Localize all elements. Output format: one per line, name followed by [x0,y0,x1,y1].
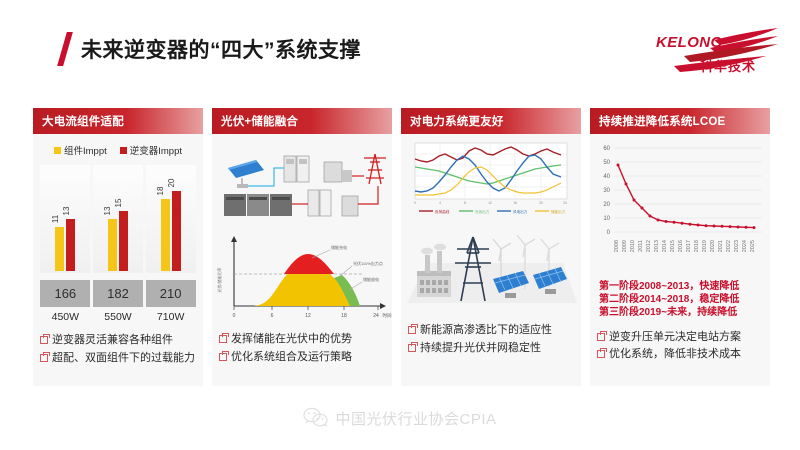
page-title-text: 未来逆变器的“四大”系统支撑 [81,34,361,64]
dispatch-chart-svg: 0 6 12 18 24 时间 光伏/储能功率 [212,232,392,322]
svg-text:2022: 2022 [726,240,732,252]
svg-text:18: 18 [341,313,347,319]
value-box-182: 182 [93,280,143,307]
legend-swatch-icon [54,147,61,154]
bar-value-label: 13 [103,207,112,216]
panel-1-title: 大电流组件适配 [33,113,124,129]
bar-group-450w: 11 13 [40,165,90,273]
bullet-text: 新能源高渗透比下的适应性 [420,324,552,337]
svg-text:光伏出力: 光伏出力 [475,209,490,214]
svg-text:时间: 时间 [383,312,392,319]
flag-bullet-icon [40,336,48,344]
panel-4-bullets: 逆变升压单元决定电站方案 优化系统，降低非技术成本 [590,320,770,361]
value-cell-450w: 166 450W [40,280,90,323]
flag-bullet-icon [408,344,416,352]
kelong-logo: KELONG 科华技术 [654,26,782,78]
list-item: 超配、双面组件下的过载能力 [40,352,196,365]
value-box-166: 166 [40,280,90,307]
value-cell-710w: 210 710W [146,280,196,323]
panel-grid-friendly: 对电力系统更友好 [401,108,581,386]
flag-bullet-icon [408,326,416,334]
bar-group-550w: 13 15 [93,165,143,273]
panel-4-header: 持续推进降低系统LCOE [590,108,770,134]
x-tick-labels: 2008 2009 2010 2011 2012 2013 2014 2015 … [614,240,756,252]
svg-text:2025: 2025 [750,240,756,252]
bar-module-450w: 11 [55,227,64,271]
pv-storage-diagram-svg [212,138,392,230]
inverter-cabinet-icon [284,156,309,182]
svg-text:2008: 2008 [614,240,620,252]
svg-text:0: 0 [414,201,416,205]
bullet-text: 发挥储能在光伏中的优势 [231,333,352,346]
svg-text:2017: 2017 [686,240,692,252]
stage-note-2: 第二阶段2014~2018，稳定降低 [599,293,770,306]
panel-large-current-module: 大电流组件适配 组件Imppt 逆变器Imppt 11 [33,108,203,386]
value-box-210: 210 [146,280,196,307]
grid-curves-svg: 048 121620 24 负荷曲线 光伏出力 风电出力 储能出力 [401,139,581,217]
stage-note-1: 第一阶段2008~2013，快速降低 [599,280,770,293]
svg-text:60: 60 [603,146,610,152]
panel-4-title: 持续推进降低系统LCOE [590,113,725,129]
svg-text:24: 24 [563,201,567,205]
flag-bullet-icon [597,350,605,358]
svg-text:12: 12 [305,313,311,319]
panel-3-legend: 负荷曲线 光伏出力 风电出力 储能出力 [419,209,566,214]
bullet-text: 优化系统，降低非技术成本 [609,348,741,361]
lcoe-chart-svg: 60 50 40 30 20 10 0 [590,136,770,278]
pv-storage-system-diagram [212,138,392,230]
legend-label-module-imppt: 组件Imppt [64,143,107,157]
svg-text:2018: 2018 [694,240,700,252]
svg-text:2023: 2023 [734,240,740,252]
panel-lcoe-reduction: 持续推进降低系统LCOE 60 50 [590,108,770,386]
flag-bullet-icon [40,354,48,362]
svg-text:40: 40 [603,174,610,180]
bar-inverter-710w: 20 [172,191,181,271]
svg-text:10: 10 [603,216,610,222]
legend-item-inverter-imppt: 逆变器Imppt [120,143,182,157]
panel-3-body: 048 121620 24 负荷曲线 光伏出力 风电出力 储能出力 [401,134,581,386]
pv-storage-dispatch-chart: 0 6 12 18 24 时间 光伏/储能功率 [212,232,392,322]
bar-value-label: 18 [156,187,165,196]
panel-pv-storage-integration: 光伏+储能融合 [212,108,392,386]
bar-value-label: 20 [167,179,176,188]
bullet-text: 持续提升光伏并网稳定性 [420,342,541,355]
legend-item-module-imppt: 组件Imppt [54,143,107,157]
panel-3-header: 对电力系统更友好 [401,108,581,134]
svg-text:储能放电: 储能放电 [363,276,379,282]
panel-1-legend: 组件Imppt 逆变器Imppt [33,143,203,157]
grid-lines [614,148,762,232]
panel-3-title: 对电力系统更友好 [401,113,504,129]
solar-panel-icon [228,160,264,188]
svg-text:16: 16 [513,201,517,205]
bar-module-550w: 13 [108,219,117,271]
footer-watermark-text: 中国光伏行业协会CPIA [335,408,496,429]
svg-text:2010: 2010 [630,240,636,252]
panel-1-header: 大电流组件适配 [33,108,203,134]
svg-text:2020: 2020 [710,240,716,252]
svg-text:12: 12 [488,201,492,205]
y-tick-labels: 60 50 40 30 20 10 0 [603,146,610,236]
svg-text:2016: 2016 [678,240,684,252]
svg-text:30: 30 [603,188,610,194]
svg-text:50: 50 [603,160,610,166]
category-label-550w: 550W [93,311,143,323]
svg-text:2015: 2015 [670,240,676,252]
panel-2-bullets: 发挥储能在光伏中的优势 优化系统组合及运行策略 [212,322,392,363]
list-item: 发挥储能在光伏中的优势 [219,333,385,346]
svg-text:2019: 2019 [702,240,708,252]
list-item: 新能源高渗透比下的适应性 [408,324,574,337]
flag-bullet-icon [597,333,605,341]
svg-text:2014: 2014 [662,240,668,252]
list-item: 优化系统组合及运行策略 [219,351,385,364]
panel-4-stage-notes: 第一阶段2008~2013，快速降低 第二阶段2014~2018，稳定降低 第三… [590,278,770,320]
panel-2-title: 光伏+储能融合 [212,113,298,129]
svg-text:2012: 2012 [646,240,652,252]
bullet-text: 逆变升压单元决定电站方案 [609,331,741,344]
panel-1-bar-chart: 11 13 13 15 [33,165,203,273]
bullet-text: 逆变器灵活兼容各种组件 [52,334,173,347]
panel-4-body: 60 50 40 30 20 10 0 [590,134,770,386]
list-item: 逆变器灵活兼容各种组件 [40,334,196,347]
svg-text:20: 20 [603,202,610,208]
flag-bullet-icon [219,353,227,361]
category-label-450w: 450W [40,311,90,323]
bar-inverter-450w: 13 [66,219,75,271]
category-label-710w: 710W [146,311,196,323]
bullet-text: 超配、双面组件下的过载能力 [52,352,195,365]
grid-curves-chart: 048 121620 24 负荷曲线 光伏出力 风电出力 储能出力 [401,139,581,217]
bar-value-label: 15 [114,199,123,208]
footer-watermark: 中国光伏行业协会CPIA [0,398,800,438]
title-accent-slash [57,32,73,66]
bar-module-710w: 18 [161,199,170,271]
svg-text:0: 0 [607,230,611,236]
svg-text:2013: 2013 [654,240,660,252]
y-axis-label: 光伏/储能功率 [216,267,222,292]
bar-value-label: 13 [62,207,71,216]
logo-brand-cn-text: 科华技术 [700,56,756,75]
panel-1-body: 组件Imppt 逆变器Imppt 11 13 [33,134,203,386]
svg-text:24: 24 [373,313,379,319]
svg-text:6: 6 [271,313,274,319]
svg-text:2024: 2024 [742,240,748,252]
bar-inverter-550w: 15 [119,211,128,271]
page-title: 未来逆变器的“四大”系统支撑 [62,32,361,66]
svg-text:储能充电: 储能充电 [331,244,347,250]
panel-grid: 大电流组件适配 组件Imppt 逆变器Imppt 11 [33,108,770,386]
panel-2-header: 光伏+储能融合 [212,108,392,134]
svg-text:负荷曲线: 负荷曲线 [435,209,450,214]
panel-1-bullets: 逆变器灵活兼容各种组件 超配、双面组件下的过载能力 [33,323,203,364]
stage-note-3: 第三阶段2019~未来，持续降低 [599,306,770,319]
svg-text:0: 0 [233,313,236,319]
legend-swatch-icon [120,147,127,154]
list-item: 逆变升压单元决定电站方案 [597,331,763,344]
grid-tower-icon [364,154,386,184]
panel-1-value-boxes: 166 450W 182 550W 210 710W [33,280,203,323]
bar-value-label: 11 [51,215,60,223]
bar-group-710w: 18 20 [146,165,196,273]
svg-text:2009: 2009 [622,240,628,252]
value-cell-550w: 182 550W [93,280,143,323]
battery-cabinet-icon [224,194,292,216]
lcoe-trend-chart: 60 50 40 30 20 10 0 [590,136,770,278]
panel-3-bullets: 新能源高渗透比下的适应性 持续提升光伏并网稳定性 [401,313,581,354]
panel-2-body: 0 6 12 18 24 时间 光伏/储能功率 [212,134,392,386]
pcs-cabinet-icon [308,190,358,216]
flag-bullet-icon [219,335,227,343]
power-system-svg [401,217,581,313]
svg-text:光伏110%出力点: 光伏110%出力点 [353,260,383,266]
x-tick-labels: 048 121620 24 [414,201,567,205]
svg-text:2021: 2021 [718,240,724,252]
power-system-illustration [401,217,581,313]
logo-brand-text: KELONG [656,34,723,51]
page-header: 未来逆变器的“四大”系统支撑 KELONG 科华技术 [0,0,800,92]
svg-text:8: 8 [464,201,466,205]
data-points [617,164,756,230]
transformer-icon [324,162,352,182]
svg-text:风电出力: 风电出力 [513,209,528,214]
svg-text:2011: 2011 [638,240,644,252]
list-item: 持续提升光伏并网稳定性 [408,342,574,355]
legend-label-inverter-imppt: 逆变器Imppt [130,143,182,157]
bullet-text: 优化系统组合及运行策略 [231,351,352,364]
list-item: 优化系统，降低非技术成本 [597,348,763,361]
svg-text:储能出力: 储能出力 [551,209,566,214]
svg-text:20: 20 [539,201,543,205]
x-tick-labels: 0 6 12 18 24 时间 [233,312,392,319]
wechat-icon [303,407,329,429]
svg-text:4: 4 [439,201,441,205]
